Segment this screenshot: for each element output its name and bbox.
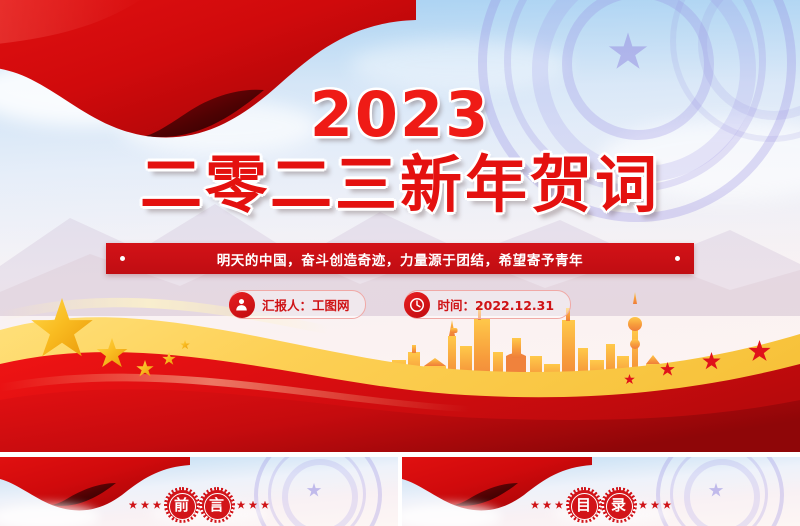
red-star-icon <box>129 501 138 510</box>
red-star-icon <box>261 501 270 510</box>
date-label: 时间：2022.12.31 <box>437 295 554 314</box>
red-band-stars-decor <box>622 348 782 388</box>
red-star-icon <box>624 374 635 385</box>
thumbnail-caption: 前 言 <box>0 490 398 520</box>
title-block: 2023 二零二三新年贺词 <box>0 84 800 219</box>
date-badge[interactable]: 时间：2022.12.31 <box>404 290 571 319</box>
gold-star-icon <box>162 352 176 366</box>
seal-badge: 言 <box>202 490 232 520</box>
subtitle-text: 明天的中国，奋斗创造奇迹，力量源于团结，希望寄予青年 <box>217 249 584 269</box>
seal-char: 录 <box>611 498 626 513</box>
red-star-icon <box>555 501 564 510</box>
meta-badges: 汇报人：工图网 时间：2022.12.31 <box>0 290 800 319</box>
person-icon <box>229 292 255 318</box>
banner-dot-right <box>675 256 680 261</box>
gold-star-icon <box>136 360 154 378</box>
thumbnail-caption: 目 录 <box>402 490 800 520</box>
thumbnail-contents[interactable]: 目 录 <box>402 457 800 526</box>
red-star-icon <box>531 501 540 510</box>
red-star-icon <box>249 501 258 510</box>
seal-badge: 前 <box>167 490 197 520</box>
star-group-left <box>129 501 162 510</box>
clock-icon <box>404 292 430 318</box>
gold-star-icon <box>96 338 128 370</box>
presenter-label: 汇报人：工图网 <box>262 295 350 314</box>
seal-char: 目 <box>576 498 591 513</box>
seal-badge: 录 <box>604 490 634 520</box>
seal-badge: 目 <box>569 490 599 520</box>
red-star-icon <box>651 501 660 510</box>
red-star-icon <box>663 501 672 510</box>
seal-char: 前 <box>174 498 189 513</box>
red-star-icon <box>141 501 150 510</box>
seal-char: 言 <box>209 498 224 513</box>
page-title: 二零二三新年贺词 <box>0 152 800 219</box>
red-star-icon <box>702 352 721 371</box>
subtitle-banner: 明天的中国，奋斗创造奇迹，力量源于团结，希望寄予青年 <box>106 243 694 274</box>
red-star-icon <box>639 501 648 510</box>
banner-dot-left <box>120 256 125 261</box>
star-group-left <box>531 501 564 510</box>
star-group-right <box>237 501 270 510</box>
year-heading: 2023 <box>0 84 800 146</box>
red-star-icon <box>660 362 675 377</box>
gold-star-icon <box>180 340 190 350</box>
presenter-badge[interactable]: 汇报人：工图网 <box>229 290 367 319</box>
presentation-preview: 2023 二零二三新年贺词 明天的中国，奋斗创造奇迹，力量源于团结，希望寄予青年… <box>0 0 800 526</box>
red-star-icon <box>237 501 246 510</box>
thumbnail-strip: 前 言 <box>0 457 800 526</box>
red-star-icon <box>543 501 552 510</box>
main-slide[interactable]: 2023 二零二三新年贺词 明天的中国，奋斗创造奇迹，力量源于团结，希望寄予青年… <box>0 0 800 452</box>
red-star-icon <box>153 501 162 510</box>
thumbnail-preface[interactable]: 前 言 <box>0 457 398 526</box>
star-group-right <box>639 501 672 510</box>
